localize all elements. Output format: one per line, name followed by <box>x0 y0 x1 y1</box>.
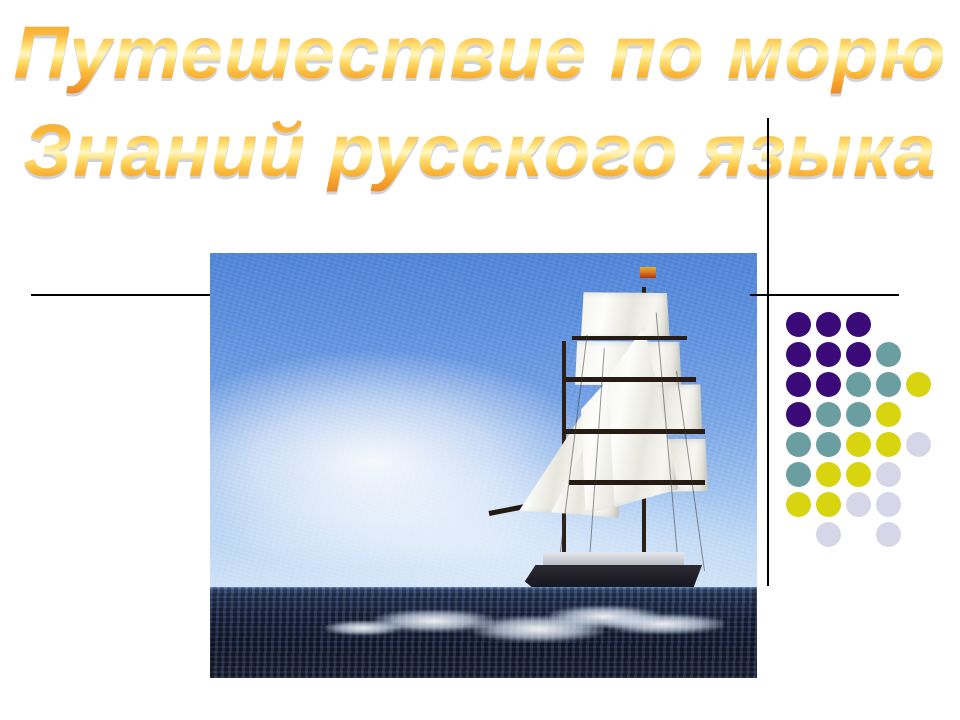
title-line-2-shadow: Знаний русского языка <box>0 111 960 196</box>
decorative-dot-yellow <box>816 462 841 487</box>
decorative-dot-purple <box>786 372 811 397</box>
wave-foam <box>604 614 724 634</box>
decorative-dot-yellow <box>876 402 901 427</box>
decorative-dot-yellow <box>846 462 871 487</box>
decorative-dot-lavender <box>876 522 901 547</box>
decorative-dot-lavender <box>876 492 901 517</box>
sailing-ship-photo <box>210 253 757 678</box>
title-line-1: Путешествие по морю <box>0 10 960 95</box>
yard-top <box>572 336 687 341</box>
decorative-dot-lavender <box>906 432 931 457</box>
decorative-dot-teal <box>846 372 871 397</box>
decorative-dot-purple <box>816 312 841 337</box>
decorative-dot-teal <box>876 372 901 397</box>
title-line-2: Знаний русского языка <box>0 108 960 193</box>
decorative-dot-yellow <box>876 432 901 457</box>
horizontal-rule-right <box>750 294 899 296</box>
decorative-dot-teal <box>846 402 871 427</box>
decorative-dot-purple <box>816 342 841 367</box>
decorative-dot-grid <box>786 312 936 557</box>
decorative-dot-purple <box>846 342 871 367</box>
slide-title: Путешествие по морю Путешествие по морю … <box>0 10 960 225</box>
decorative-dot-purple <box>846 312 871 337</box>
decorative-dot-teal <box>786 432 811 457</box>
presentation-slide: Путешествие по морю Путешествие по морю … <box>0 0 960 720</box>
decorative-dot-yellow <box>846 432 871 457</box>
decorative-dot-lavender <box>876 462 901 487</box>
decorative-dot-teal <box>816 432 841 457</box>
ship-illustration <box>484 262 758 623</box>
horizontal-rule-left <box>31 294 217 296</box>
title-line-1-shadow: Путешествие по морю <box>0 13 960 98</box>
decorative-dot-purple <box>786 312 811 337</box>
decorative-dot-lavender <box>816 522 841 547</box>
decorative-dot-purple <box>786 342 811 367</box>
vertical-rule <box>767 118 769 586</box>
decorative-dot-yellow <box>906 372 931 397</box>
decorative-dot-teal <box>816 402 841 427</box>
decorative-dot-teal <box>786 462 811 487</box>
decorative-dot-yellow <box>786 492 811 517</box>
decorative-dot-purple <box>786 402 811 427</box>
decorative-dot-purple <box>816 372 841 397</box>
yard-lower <box>569 480 705 485</box>
decorative-dot-yellow <box>816 492 841 517</box>
decorative-dot-teal <box>876 342 901 367</box>
decorative-dot-lavender <box>846 492 871 517</box>
ship-flag <box>640 267 656 279</box>
